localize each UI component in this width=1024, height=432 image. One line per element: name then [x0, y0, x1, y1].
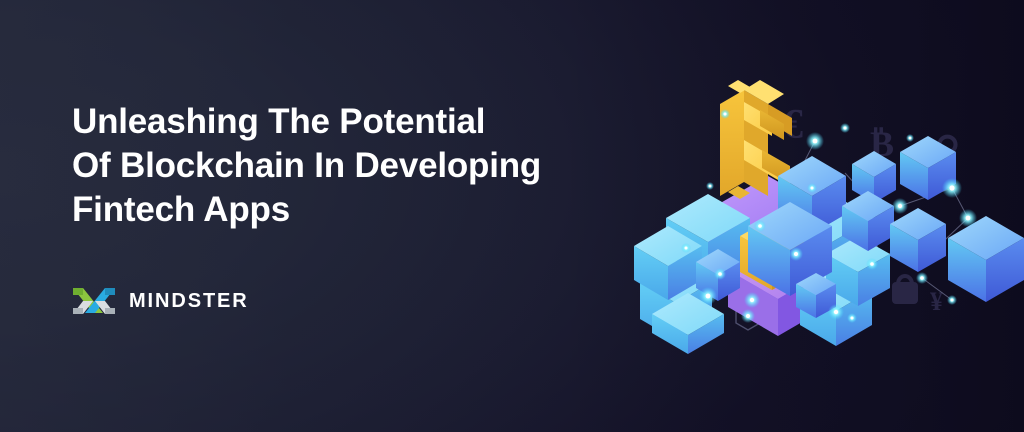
headline-line-1: Unleashing The Potential [72, 100, 612, 144]
glow-dot [942, 178, 962, 198]
glow-dot [906, 134, 914, 142]
glow-dot [892, 198, 908, 214]
mindster-wordmark: MINDSTER [129, 291, 249, 311]
glow-dot [828, 304, 844, 320]
floating-cube-f [948, 216, 1024, 302]
page-title: Unleashing The Potential Of Blockchain I… [72, 100, 612, 232]
floating-cube-e [890, 208, 946, 272]
glow-dot [714, 268, 726, 280]
mindster-x-mark [72, 284, 116, 318]
glow-dot [840, 123, 850, 133]
glow-dot [681, 243, 691, 253]
glow-dot [847, 313, 857, 323]
glow-dot [806, 132, 824, 150]
hero-content: Unleashing The Potential Of Blockchain I… [72, 100, 612, 232]
glow-dot [789, 247, 803, 261]
glow-dot [947, 295, 957, 305]
glow-dot [959, 209, 977, 227]
glow-dot [866, 258, 878, 270]
headline-line-3: Fintech Apps [72, 188, 612, 232]
glow-dot [720, 109, 730, 119]
isometric-blockchain-illustration: € ₿ ⚲ ¥ ₿ ¥ [600, 78, 1024, 358]
glow-dot [706, 182, 714, 190]
hero-banner: € ₿ ⚲ ¥ ₿ ¥ [0, 0, 1024, 432]
glow-dot [807, 183, 817, 193]
glow-dot [754, 220, 766, 232]
lock-glyph [892, 276, 918, 304]
mindster-logo[interactable]: MINDSTER [72, 284, 249, 318]
glow-dot [741, 309, 755, 323]
headline-line-2: Of Blockchain In Developing [72, 144, 612, 188]
glow-dot [916, 272, 928, 284]
glow-dot [699, 287, 717, 305]
glow-dot [744, 292, 760, 308]
